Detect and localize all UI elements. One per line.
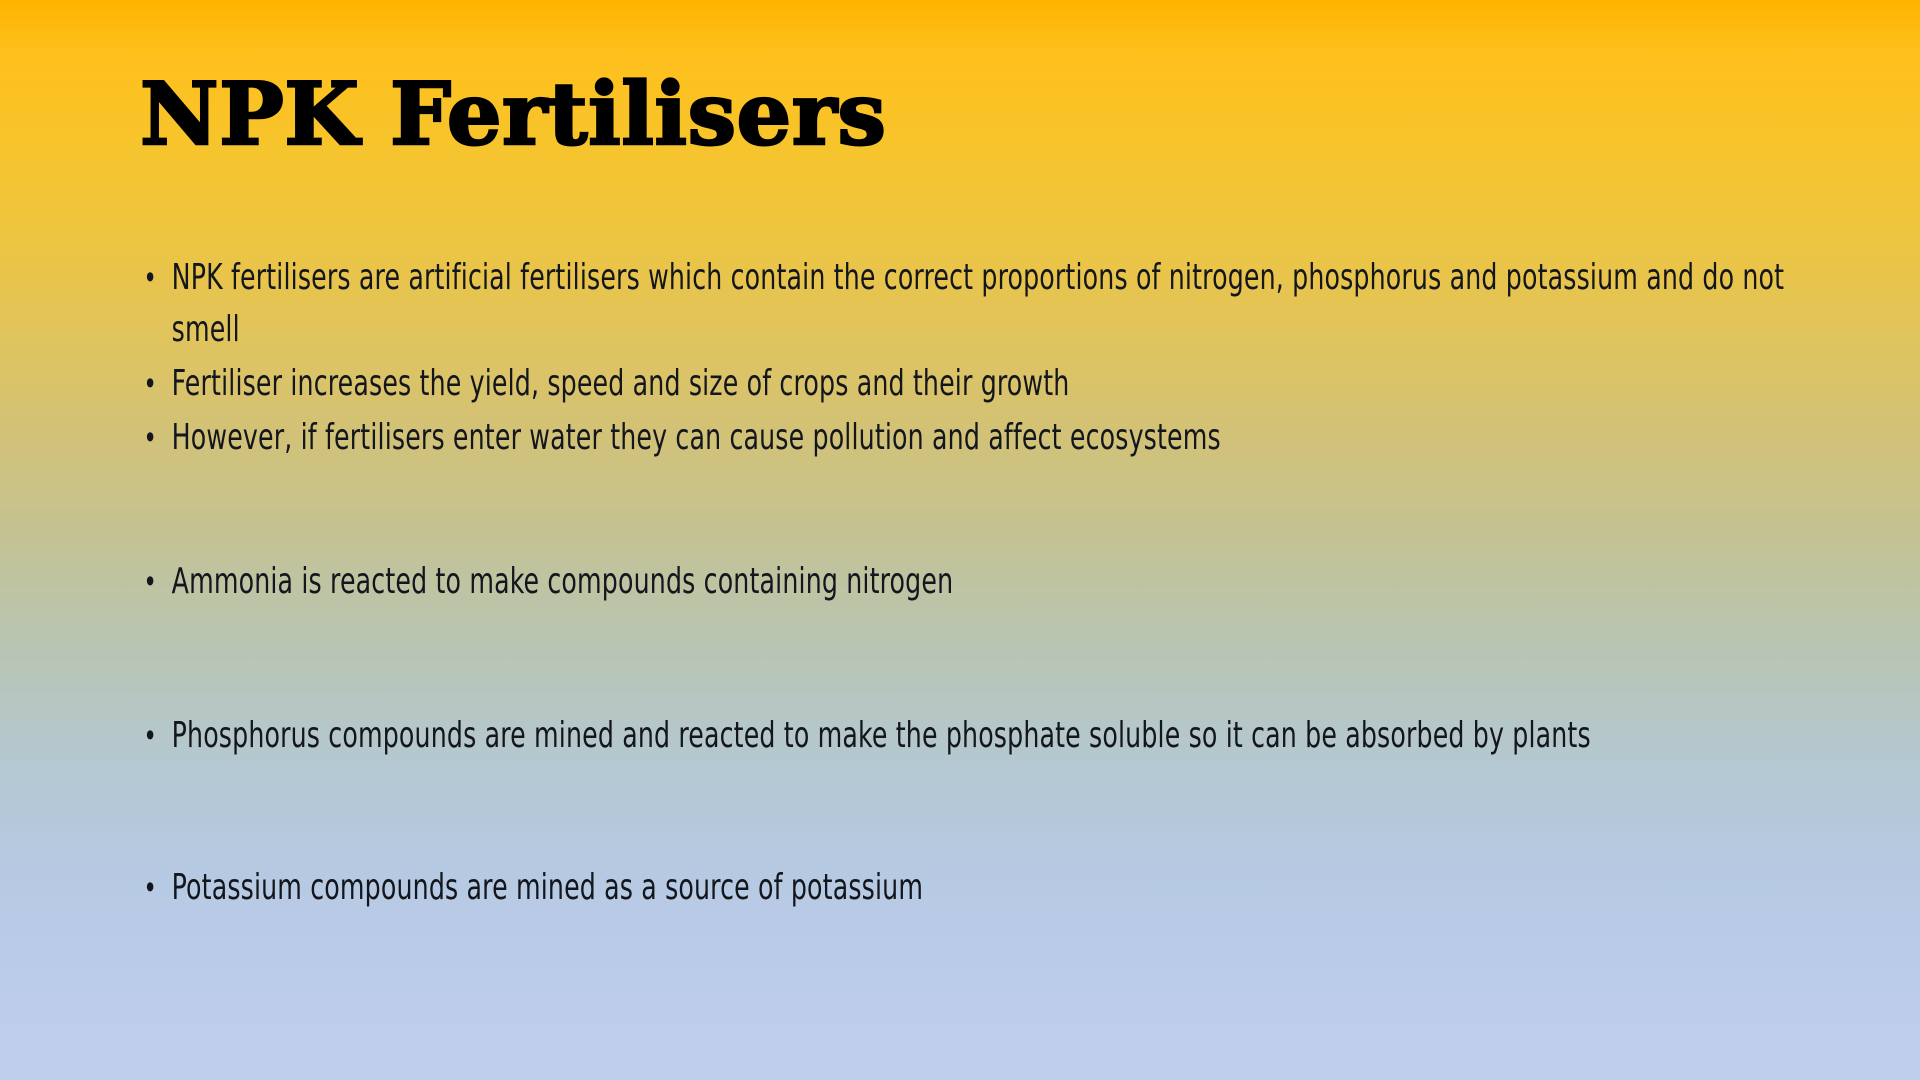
bullet-pollution: However, if fertilisers enter water they… (142, 412, 1827, 464)
bullet-list: NPK fertilisers are artificial fertilise… (142, 252, 1832, 914)
bullet-phosphorus: Phosphorus compounds are mined and react… (142, 710, 1827, 762)
bullet-ammonia: Ammonia is reacted to make compounds con… (142, 556, 1827, 608)
bullet-potassium: Potassium compounds are mined as a sourc… (142, 862, 1827, 914)
page-title: NPK Fertilisers (140, 72, 1780, 158)
bullet-npk-definition: NPK fertilisers are artificial fertilise… (142, 252, 1827, 356)
presentation-slide: NPK Fertilisers NPK fertilisers are arti… (0, 0, 1920, 1080)
bullet-fertiliser-yield: Fertiliser increases the yield, speed an… (142, 358, 1827, 410)
